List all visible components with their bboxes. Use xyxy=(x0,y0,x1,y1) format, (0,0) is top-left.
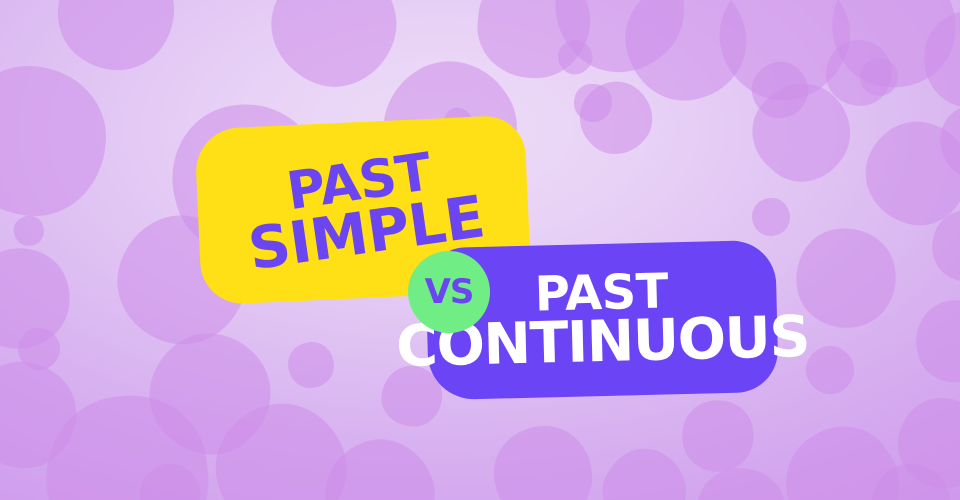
banner-graphic: PAST SIMPLE PAST CONTINUOUS VS xyxy=(0,0,960,500)
background-blob xyxy=(908,292,960,390)
vs-badge-circle: VS xyxy=(408,251,490,333)
background-blob xyxy=(0,66,106,216)
background-blob xyxy=(673,391,764,482)
background-blob xyxy=(492,424,593,500)
background-blob xyxy=(254,0,414,104)
background-blob xyxy=(751,197,792,238)
background-blob xyxy=(9,211,50,252)
vs-badge-label: VS xyxy=(425,275,474,309)
background-blob xyxy=(279,333,344,398)
